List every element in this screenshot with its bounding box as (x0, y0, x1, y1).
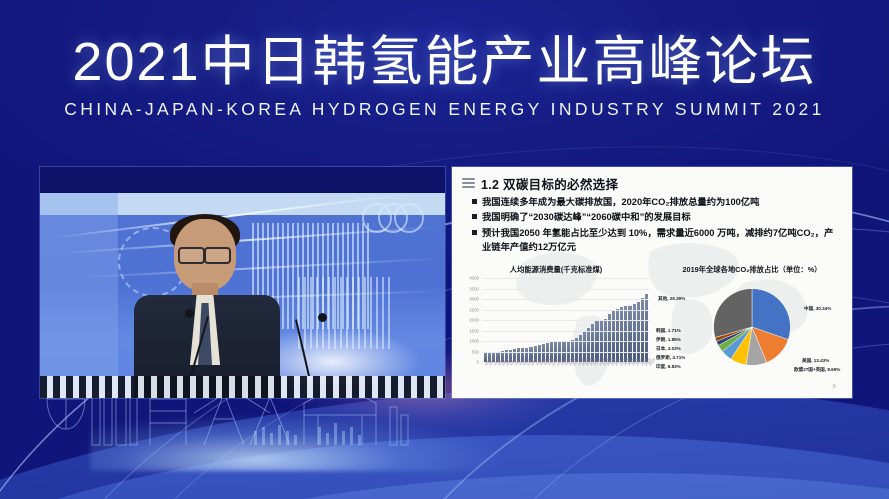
gridline (482, 352, 650, 353)
microphone-head-1 (185, 309, 194, 318)
city-light-glow (90, 413, 510, 471)
y-axis-tick: 0 (477, 360, 479, 365)
pie-slice-label: 美国, 13.43% (802, 358, 829, 364)
speaker-video-feed[interactable] (40, 167, 445, 398)
pie-chart-plot-area: 中国, 30.34%美国, 13.43%欧盟27国+英国, 8.69%印度, 6… (654, 278, 850, 382)
gridline (482, 299, 650, 300)
y-axis-tick: 500 (472, 349, 479, 354)
bar-chart-plot-area: 40003500300025002000150010005000 (482, 278, 650, 362)
gridline (482, 331, 650, 332)
bar (628, 306, 631, 362)
bar (624, 306, 627, 362)
bullet-text: 我国连续多年成为最大碳排放国，2020年CO₂排放总量约为100亿吨 (482, 195, 840, 209)
speaker-glasses-left (178, 247, 205, 264)
pie-slice-label: 韩国, 1.71% (656, 328, 681, 334)
bullet-text: 我国明确了“2030碳达峰”“2060碳中和”的发展目标 (482, 210, 840, 224)
co2-share-pie-chart: 2019年全球各地CO₂排放占比（单位：%） 中国, 30.34%美国, 13.… (654, 265, 850, 385)
bar (637, 302, 640, 362)
pie-slice-label: 其他, 29.39% (658, 296, 685, 302)
bullet-square-icon (472, 230, 477, 235)
podium (40, 376, 445, 398)
gridline (482, 278, 650, 279)
pie-slice-label: 印度, 6.83% (656, 364, 681, 370)
bullet-item: 我国明确了“2030碳达峰”“2060碳中和”的发展目标 (472, 210, 840, 224)
y-axis-tick: 2500 (469, 307, 479, 312)
pie-slice-label: 日本, 3.03% (656, 346, 681, 352)
gridline (482, 310, 650, 311)
gridline (482, 341, 650, 342)
event-title-chinese: 2021中日韩氢能产业高峰论坛 (0, 34, 889, 91)
pie-slice-label: 俄罗斯, 4.71% (656, 355, 685, 361)
y-axis-tick: 3500 (469, 286, 479, 291)
backdrop-left-panel (40, 193, 118, 398)
bullet-square-icon (472, 199, 477, 204)
y-axis-tick: 3000 (469, 297, 479, 302)
backdrop-bar-graphic-2 (298, 277, 394, 349)
bar (633, 304, 636, 362)
video-top-letterbox (40, 167, 445, 193)
pie-slice-label: 伊朗, 1.85% (656, 337, 681, 343)
y-axis-tick: 2000 (469, 318, 479, 323)
pie-slice-label: 中国, 30.34% (804, 306, 831, 312)
slide-heading: 1.2 双碳目标的必然选择 (481, 174, 618, 193)
speaker-figure (128, 219, 288, 398)
gridline (482, 320, 650, 321)
speaker-glasses-right (204, 247, 231, 264)
slide-heading-row: 1.2 双碳目标的必然选择 (462, 173, 844, 193)
y-axis-tick: 1000 (469, 339, 479, 344)
bar (616, 309, 619, 362)
slide-charts-row: 人均能源消费量(千克标准煤) 4000350030002500200015001… (452, 265, 852, 385)
backdrop-rings-graphic (362, 203, 420, 229)
bar-chart-x-axis-labels: 1980198119821983198419851986198719881989… (482, 364, 650, 380)
slide-page-number: 5 (833, 384, 836, 390)
y-axis-tick: 1500 (469, 328, 479, 333)
energy-consumption-bar-chart: 人均能源消费量(千克标准煤) 4000350030002500200015001… (458, 265, 654, 385)
pie-graphic (709, 284, 795, 370)
bar (612, 310, 615, 362)
bullet-text: 预计我国2050 年氢能占比至少达到 10%，需求量近6000 万吨，减排约7亿… (482, 226, 840, 255)
event-title-block: 2021中日韩氢能产业高峰论坛 CHINA-JAPAN-KOREA HYDROG… (0, 34, 889, 120)
bar (620, 307, 623, 362)
bullet-square-icon (472, 214, 477, 219)
slide-bullet-list: 我国连续多年成为最大碳排放国，2020年CO₂排放总量约为100亿吨 我国明确了… (472, 195, 840, 256)
y-axis-tick: 4000 (469, 276, 479, 281)
bullet-item: 我国连续多年成为最大碳排放国，2020年CO₂排放总量约为100亿吨 (472, 195, 840, 209)
gridline (482, 289, 650, 290)
pie-slice-label: 欧盟27国+英国, 8.69% (794, 367, 840, 373)
presentation-slide[interactable]: 1.2 双碳目标的必然选择 我国连续多年成为最大碳排放国，2020年CO₂排放总… (452, 167, 852, 398)
broadcast-screen: 2021中日韩氢能产业高峰论坛 CHINA-JAPAN-KOREA HYDROG… (0, 0, 889, 499)
bar (608, 314, 611, 362)
bar-chart-title: 人均能源消费量(千克标准煤) (458, 265, 654, 275)
pie-chart-title: 2019年全球各地CO₂排放占比（单位：%） (654, 265, 850, 275)
event-title-english: CHINA-JAPAN-KOREA HYDROGEN ENERGY INDUST… (0, 99, 889, 120)
list-lines-icon (462, 178, 475, 188)
bullet-item: 预计我国2050 年氢能占比至少达到 10%，需求量近6000 万吨，减排约7亿… (472, 226, 840, 255)
microphone-head-2 (318, 313, 327, 322)
